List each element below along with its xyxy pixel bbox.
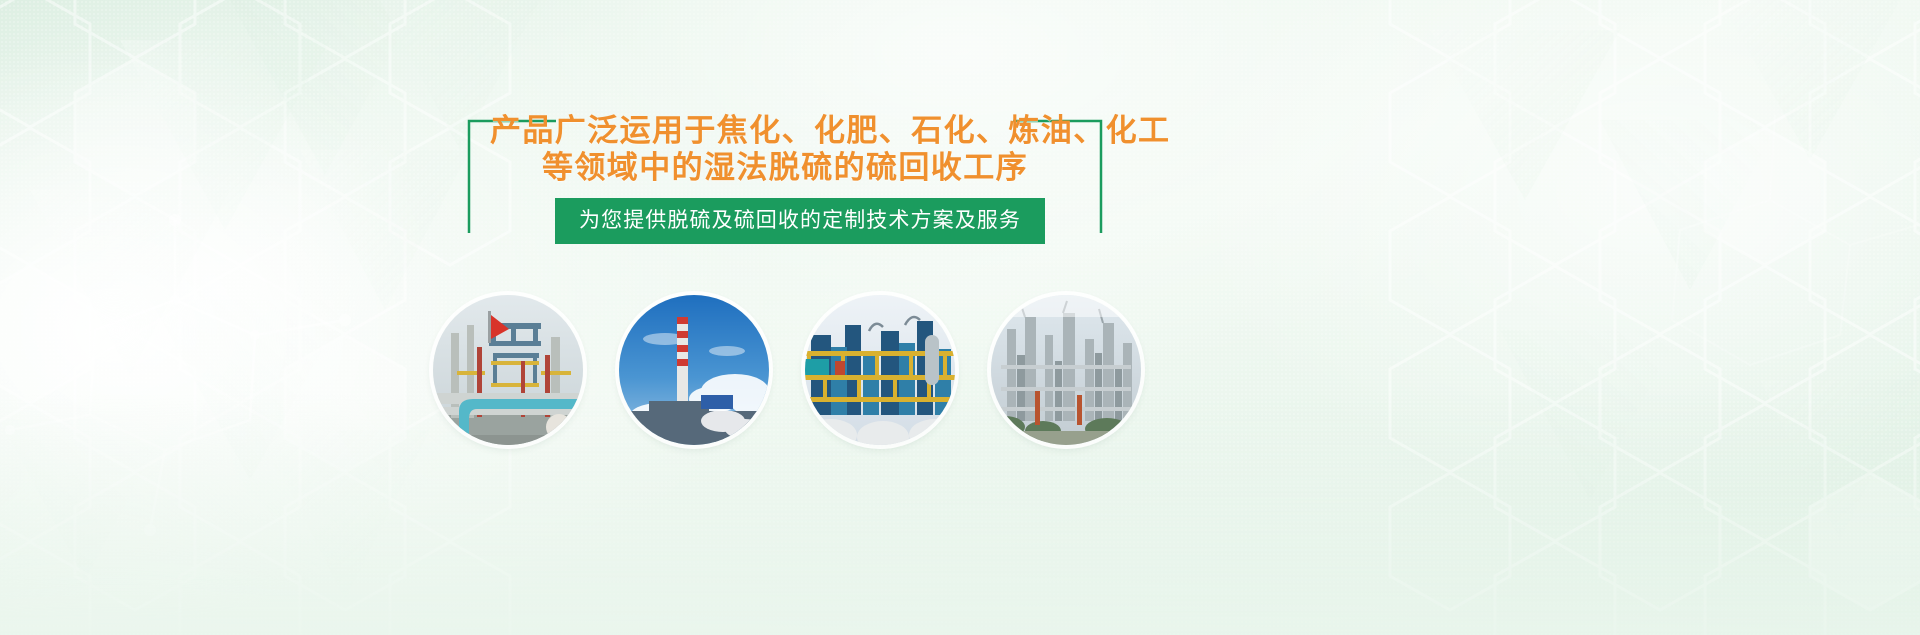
hero-banner: 产品广泛运用于焦化、化肥、石化、炼油、化工 等领域中的湿法脱硫的硫回收工序 为您…: [0, 0, 1920, 635]
smokestack-photo[interactable]: [619, 295, 769, 445]
headline-block: 产品广泛运用于焦化、化肥、石化、炼油、化工 等领域中的湿法脱硫的硫回收工序: [460, 112, 1110, 186]
headline-line-2: 等领域中的湿法脱硫的硫回收工序: [460, 149, 1110, 186]
banner-content: 产品广泛运用于焦化、化肥、石化、炼油、化工 等领域中的湿法脱硫的硫回收工序 为您…: [0, 0, 1920, 635]
subtitle-bar: 为您提供脱硫及硫回收的定制技术方案及服务: [555, 198, 1045, 244]
headline-line-1: 产品广泛运用于焦化、化肥、石化、炼油、化工: [460, 112, 1110, 149]
refinery-piping-photo[interactable]: [433, 295, 583, 445]
chemical-plant-photo[interactable]: [805, 295, 955, 445]
page-title: 产品广泛运用于焦化、化肥、石化、炼油、化工 等领域中的湿法脱硫的硫回收工序: [460, 112, 1110, 186]
distillation-towers-photo[interactable]: [991, 295, 1141, 445]
photo-strip: [0, 295, 1920, 445]
